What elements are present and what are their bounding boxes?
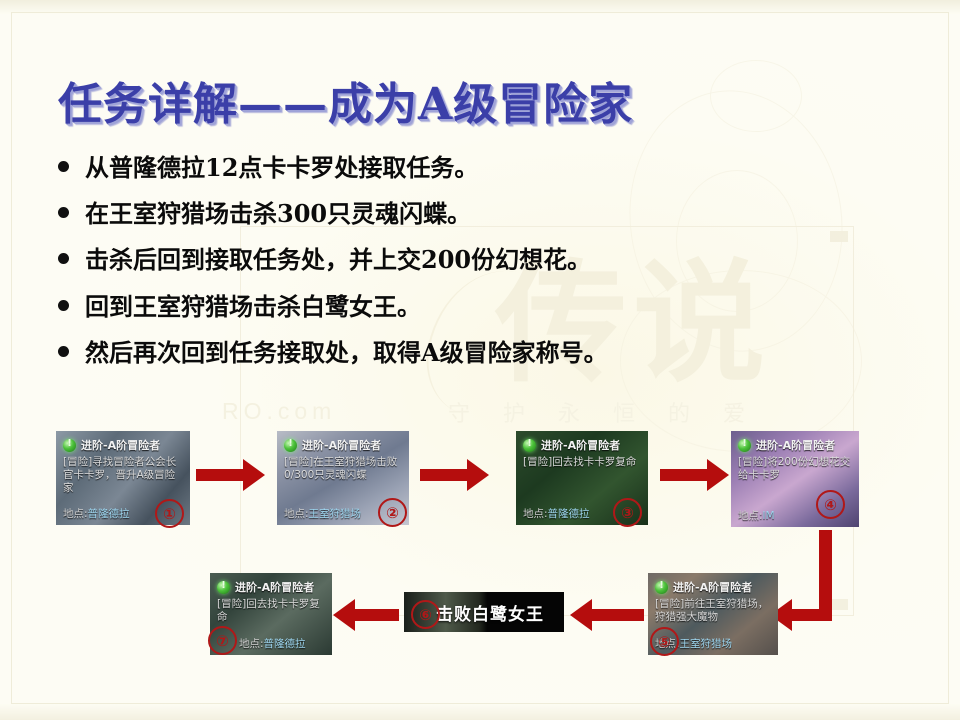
quest-title: 进阶-A阶冒险者 bbox=[81, 437, 160, 453]
quest-location-key: 地点: bbox=[63, 508, 88, 520]
quest-exclamation-icon bbox=[284, 439, 297, 452]
quest-header: 进阶-A阶冒险者 bbox=[523, 437, 641, 453]
quest-header: 进阶-A阶冒险者 bbox=[655, 579, 771, 595]
quest-location: 地点:lM bbox=[738, 508, 775, 523]
quest-location-value: 普隆德拉 bbox=[88, 508, 130, 520]
quest-location: 地点:普隆德拉 bbox=[239, 636, 306, 651]
quest-body: [冒险]回去找卡卡罗复命 bbox=[523, 456, 641, 469]
bullet-dot-icon bbox=[58, 300, 69, 311]
quest-title: 进阶-A阶冒险者 bbox=[756, 437, 835, 453]
list-item: 回到王室狩猎场击杀白鹭女王。 bbox=[58, 291, 758, 322]
quest-exclamation-icon bbox=[738, 439, 751, 452]
quest-location: 地点:普隆德拉 bbox=[523, 506, 590, 521]
bullet-text: 在王室狩猎场击杀300只灵魂闪蝶。 bbox=[85, 198, 471, 229]
bullet-text: 击杀后回到接取任务处，并上交200份幻想花。 bbox=[85, 244, 591, 275]
quest-body: [冒险]在王室狩猎场击败0/300只灵魂闪蝶 bbox=[284, 456, 402, 482]
quest-title: 进阶-A阶冒险者 bbox=[302, 437, 381, 453]
bullet-dot-icon bbox=[58, 161, 69, 172]
quest-title: 进阶-A阶冒险者 bbox=[673, 579, 752, 595]
step-number-4: ④ bbox=[816, 490, 845, 519]
bullet-list: 从普隆德拉12点卡卡罗处接取任务。 在王室狩猎场击杀300只灵魂闪蝶。 击杀后回… bbox=[58, 152, 758, 383]
quest-location-key: 地点: bbox=[239, 638, 264, 650]
quest-body: [冒险]寻找冒险者公会长官卡卡罗，晋升A级冒险家 bbox=[63, 456, 183, 494]
quest-exclamation-icon bbox=[63, 439, 76, 452]
boss-banner-text: 击败白鹭女王 bbox=[436, 600, 544, 625]
list-item: 击杀后回到接取任务处，并上交200份幻想花。 bbox=[58, 244, 758, 275]
frame-corner-top-right bbox=[830, 231, 848, 242]
bullet-dot-icon bbox=[58, 346, 69, 357]
frame-corner-bottom-right bbox=[830, 599, 848, 610]
slide-canvas: 传说 RO.com 守 护 永 恒 的 爱 任务详解——成为A级冒险家 从普隆德… bbox=[0, 0, 960, 720]
quest-header: 进阶-A阶冒险者 bbox=[284, 437, 402, 453]
quest-body: [冒险]回去找卡卡罗复命 bbox=[217, 598, 325, 624]
quest-location-value: 普隆德拉 bbox=[548, 508, 590, 520]
bullet-dot-icon bbox=[58, 253, 69, 264]
step-number-5: ⑤ bbox=[650, 627, 679, 656]
quest-body: [冒险]前往王室狩猎场，狩猎强大魔物 bbox=[655, 598, 771, 624]
quest-header: 进阶-A阶冒险者 bbox=[738, 437, 852, 453]
list-item: 然后再次回到任务接取处，取得A级冒险家称号。 bbox=[58, 337, 758, 368]
step-number-6: ⑥ bbox=[411, 600, 440, 629]
quest-location-key: 地点: bbox=[284, 508, 309, 520]
quest-location: 地点:普隆德拉 bbox=[63, 506, 130, 521]
quest-title: 进阶-A阶冒险者 bbox=[541, 437, 620, 453]
quest-location-value: lM bbox=[763, 510, 775, 522]
quest-location-value: 普隆德拉 bbox=[264, 638, 306, 650]
bullet-text: 然后再次回到任务接取处，取得A级冒险家称号。 bbox=[85, 337, 608, 368]
quest-location-value: 王室狩猎场 bbox=[680, 638, 733, 650]
quest-exclamation-icon bbox=[217, 581, 230, 594]
bullet-text: 从普隆德拉12点卡卡罗处接取任务。 bbox=[85, 152, 478, 183]
step-number-3: ③ bbox=[613, 498, 642, 527]
quest-exclamation-icon bbox=[655, 581, 668, 594]
quest-location: 地点:王室狩猎场 bbox=[284, 506, 361, 521]
quest-body: [冒险]将200份幻想花交给卡卡罗 bbox=[738, 456, 852, 482]
bullet-dot-icon bbox=[58, 207, 69, 218]
quest-header: 进阶-A阶冒险者 bbox=[63, 437, 183, 453]
quest-location-key: 地点: bbox=[738, 510, 763, 522]
step-number-7: ⑦ bbox=[208, 626, 237, 655]
quest-title: 进阶-A阶冒险者 bbox=[235, 579, 314, 595]
step-number-2: ② bbox=[378, 498, 407, 527]
page-title: 任务详解——成为A级冒险家 bbox=[58, 68, 633, 132]
list-item: 从普隆德拉12点卡卡罗处接取任务。 bbox=[58, 152, 758, 183]
quest-header: 进阶-A阶冒险者 bbox=[217, 579, 325, 595]
step-number-1: ① bbox=[155, 499, 184, 528]
quest-location-key: 地点: bbox=[523, 508, 548, 520]
quest-exclamation-icon bbox=[523, 439, 536, 452]
list-item: 在王室狩猎场击杀300只灵魂闪蝶。 bbox=[58, 198, 758, 229]
bullet-text: 回到王室狩猎场击杀白鹭女王。 bbox=[85, 291, 421, 322]
quest-location-value: 王室狩猎场 bbox=[309, 508, 362, 520]
